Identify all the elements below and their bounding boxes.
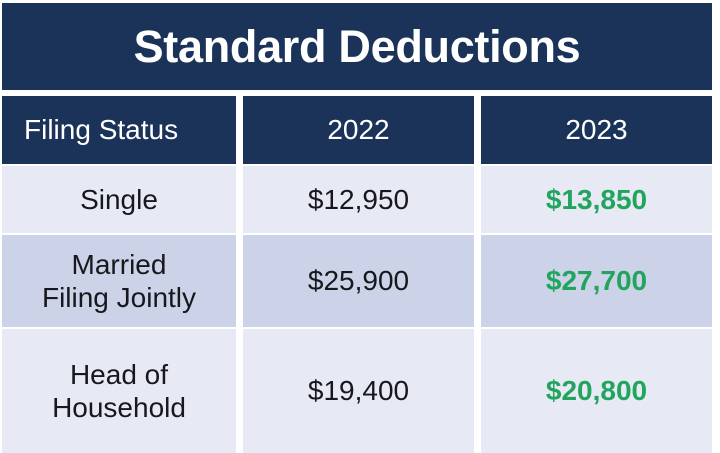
cell-amount-2023: $27,700 [481, 235, 712, 327]
cell-amount-2023: $13,850 [481, 166, 712, 233]
cell-filing-status: Married Filing Jointly [2, 235, 236, 327]
table-row: Head of Household $19,400 $20,800 [2, 329, 712, 453]
cell-amount-2023: $20,800 [481, 329, 712, 453]
cell-filing-status: Single [2, 166, 236, 233]
column-header-2022: 2022 [243, 96, 474, 164]
cell-filing-status: Head of Household [2, 329, 236, 453]
cell-filing-status-text: Head of Household [52, 358, 186, 424]
cell-filing-status-text: Married Filing Jointly [42, 248, 196, 314]
standard-deductions-infographic: Standard Deductions Filing Status 2022 2… [0, 0, 720, 447]
column-header-2023: 2023 [481, 96, 712, 164]
column-header-filing-status: Filing Status [2, 96, 236, 164]
cell-amount-2022: $25,900 [243, 235, 474, 327]
table-row: Married Filing Jointly $25,900 $27,700 [2, 235, 712, 327]
page-title: Standard Deductions [134, 24, 581, 69]
table-row: Single $12,950 $13,850 [2, 166, 712, 233]
table-header-row: Filing Status 2022 2023 [2, 96, 712, 164]
deductions-table: Filing Status 2022 2023 Single $12,950 $… [2, 96, 712, 447]
cell-amount-2022: $19,400 [243, 329, 474, 453]
cell-amount-2022: $12,950 [243, 166, 474, 233]
title-banner: Standard Deductions [2, 3, 712, 90]
